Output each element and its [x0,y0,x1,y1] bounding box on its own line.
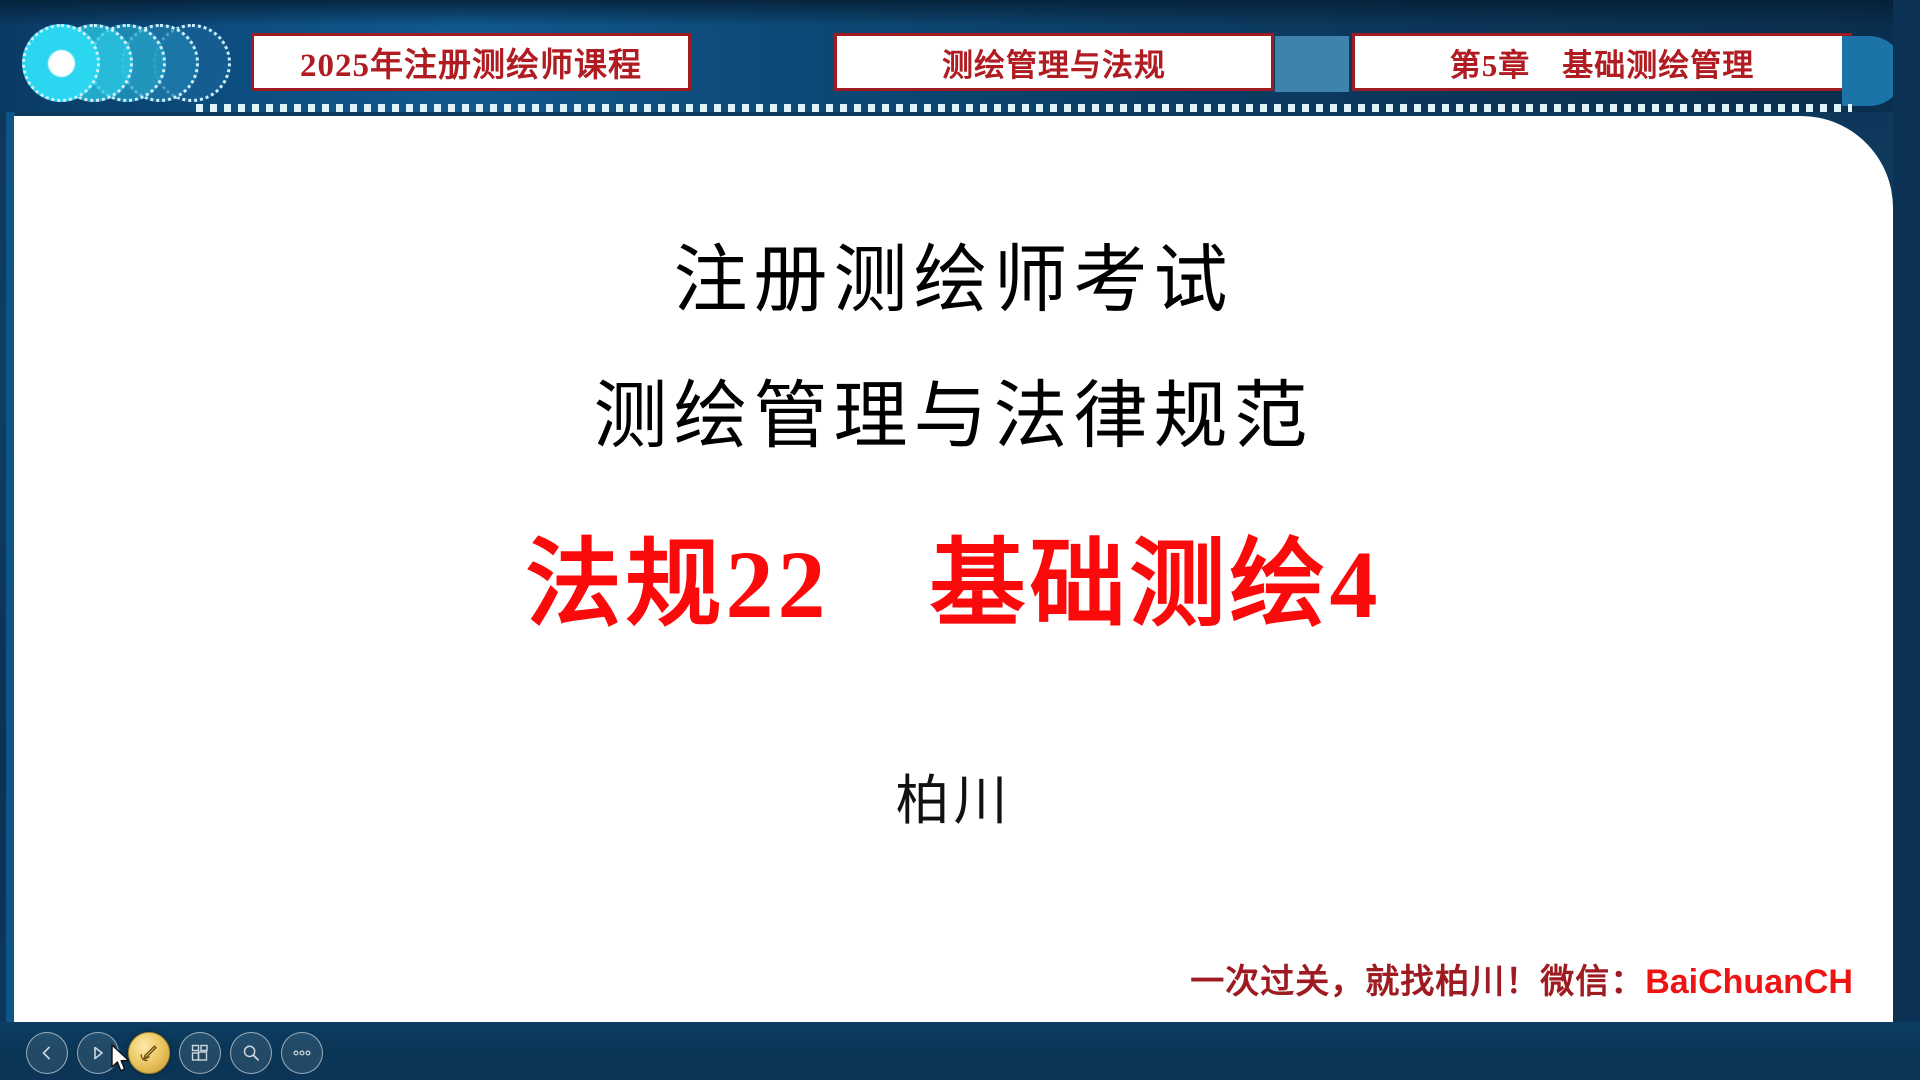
pen-tool-button[interactable] [128,1032,170,1074]
slide-author: 柏川 [14,756,1893,835]
slogan-text: 一次过关，就找柏川！微信： [1190,964,1645,1001]
header-course-box: 2025年注册测绘师课程 [251,33,691,91]
slide-lesson-title: 法规22 基础测绘4 [14,506,1893,645]
header-chapter-label: 第5章 基础测绘管理 [1450,40,1755,85]
slide-title-line-1: 注册测绘师考试 [14,220,1893,327]
presenter-toolbar [26,1032,323,1074]
magnifier-icon [241,1043,261,1063]
more-options-button[interactable] [281,1032,323,1074]
slide-slogan: 一次过关，就找柏川！微信：BaiChuanCH [1190,954,1853,1003]
header-spacer-block [1275,36,1349,92]
logo-core-dot [48,50,75,77]
slide-title-line-2: 测绘管理与法律规范 [14,356,1893,463]
header-chapter-box: 第5章 基础测绘管理 [1352,33,1852,91]
ellipsis-icon [291,1048,313,1058]
header-subject-label: 测绘管理与法规 [942,40,1166,85]
header-course-label: 2025年注册测绘师课程 [300,38,642,86]
chevron-left-icon [38,1044,56,1062]
play-triangle-icon [89,1044,107,1062]
wechat-handle: BaiChuanCH [1645,963,1853,1001]
right-accent-rail [1893,0,1920,1080]
presentation-slide: 2025年注册测绘师课程 测绘管理与法规 第5章 基础测绘管理 注册测绘师考试 … [0,0,1920,1080]
zoom-in-button[interactable] [230,1032,272,1074]
grid-icon [190,1043,210,1063]
header-dotted-divider [196,104,1852,112]
slide-overview-button[interactable] [179,1032,221,1074]
overlapping-circles-logo-icon [22,24,232,102]
slide-content-surface: 注册测绘师考试 测绘管理与法律规范 法规22 基础测绘4 柏川 一次过关，就找柏… [14,116,1893,1022]
header-subject-box: 测绘管理与法规 [834,33,1274,91]
next-slide-button[interactable] [77,1032,119,1074]
previous-slide-button[interactable] [26,1032,68,1074]
pen-icon [138,1042,160,1064]
